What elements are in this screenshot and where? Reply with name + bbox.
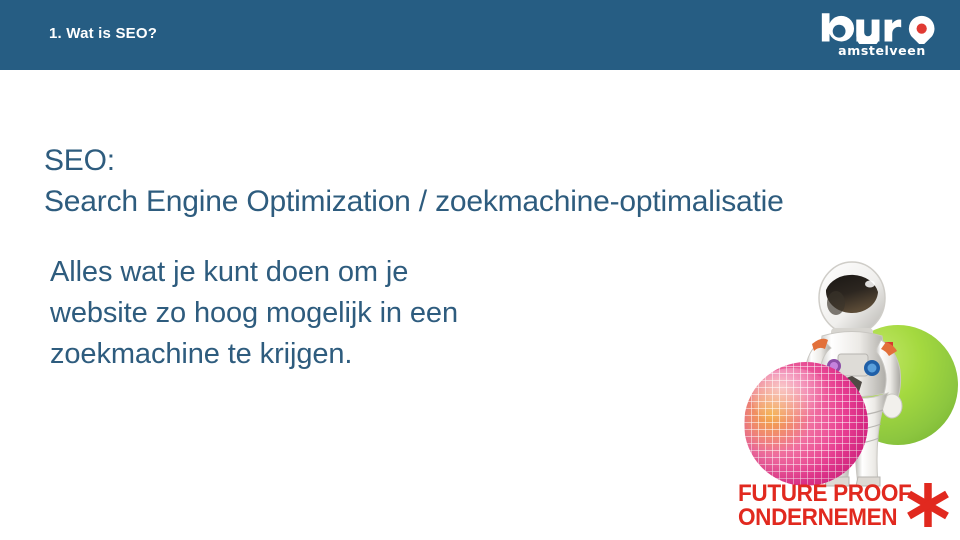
- slide: 1. Wat is SEO? amstelveen SEO: Search En…: [0, 0, 960, 540]
- body-line-2: website zo hoog mogelijk in een: [50, 293, 590, 334]
- asterisk-icon: [904, 480, 952, 530]
- fp-line-1: FUTURE PROOF: [738, 482, 894, 506]
- pink-disco-sphere: [744, 362, 868, 486]
- body-line-1: Alles wat je kunt doen om je: [50, 252, 590, 293]
- buro-subtext: amstelveen: [818, 43, 946, 58]
- pin-dot-icon: [917, 24, 927, 34]
- future-proof-wordmark: FUTURE PROOF ONDERNEMEN: [738, 482, 894, 530]
- headline: SEO: Search Engine Optimization / zoekma…: [44, 140, 874, 222]
- body-line-3: zoekmachine te krijgen.: [50, 334, 590, 375]
- buro-wordmark-icon: [818, 12, 946, 44]
- future-proof-artwork: FUTURE PROOF ONDERNEMEN: [730, 258, 960, 540]
- buro-amstelveen-logo: amstelveen: [818, 12, 946, 62]
- page-title: 1. Wat is SEO?: [49, 25, 157, 42]
- fp-line-2: ONDERNEMEN: [738, 506, 894, 530]
- headline-line-1: SEO:: [44, 140, 874, 181]
- headline-line-2: Search Engine Optimization / zoekmachine…: [44, 181, 874, 222]
- future-proof-ondernemen-logo: FUTURE PROOF ONDERNEMEN: [738, 480, 954, 536]
- body-paragraph: Alles wat je kunt doen om je website zo …: [50, 252, 590, 375]
